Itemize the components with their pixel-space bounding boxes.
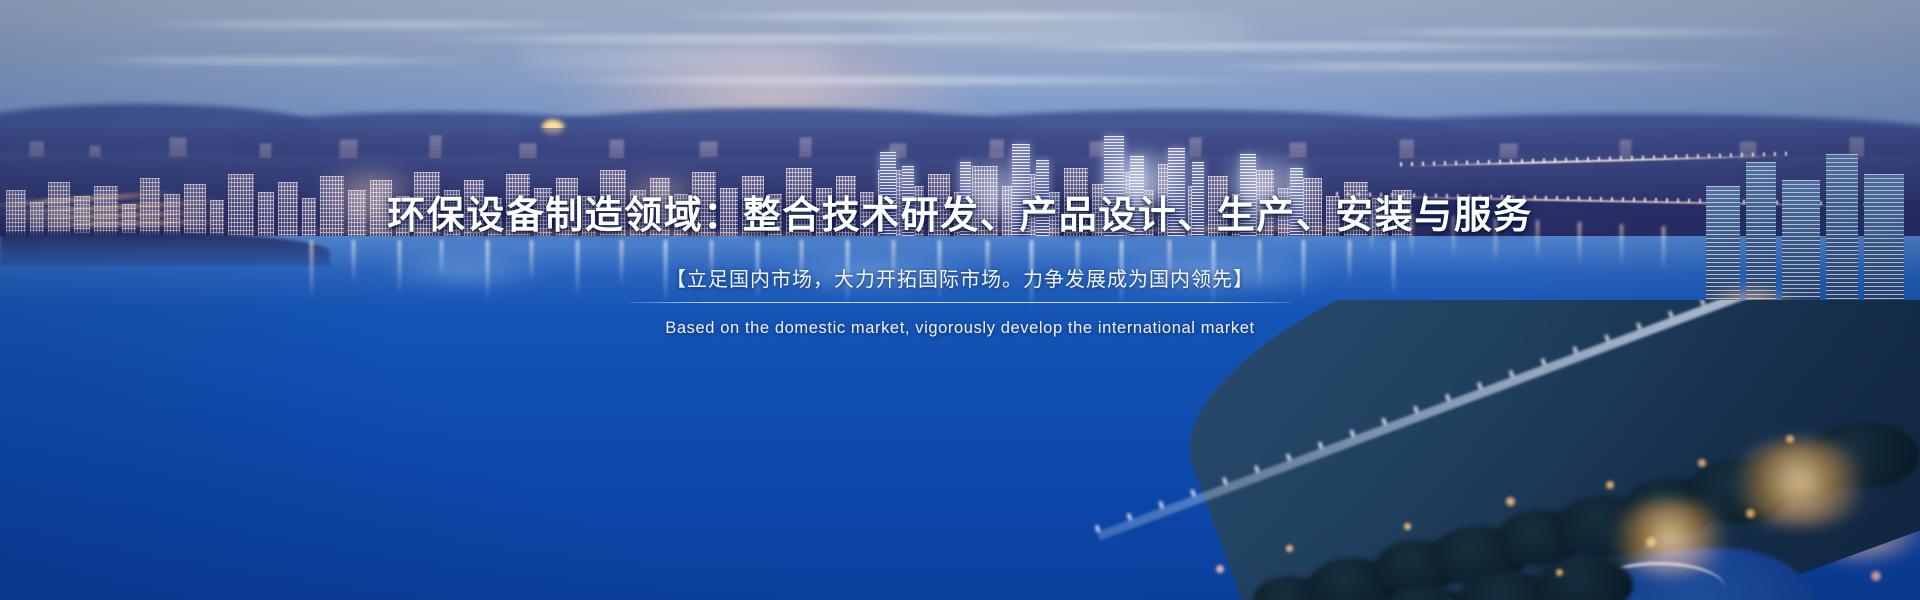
- cloud: [880, 22, 1260, 44]
- city-glow-warm: [600, 176, 720, 232]
- city-glow: [1200, 158, 1330, 224]
- cloud-streak: [640, 14, 1280, 19]
- city-glow: [940, 162, 1050, 224]
- lit-peninsula: [1085, 300, 1920, 600]
- cloud-streak: [120, 22, 640, 27]
- cloud-streak: [1320, 30, 1840, 35]
- city-glow-warm: [300, 170, 440, 230]
- city-glow: [1080, 150, 1200, 220]
- cloud-streak: [980, 44, 1680, 49]
- cloud-streak: [60, 58, 500, 63]
- cloud: [520, 46, 840, 72]
- cloud-streak: [500, 78, 1320, 83]
- cloud-streak: [1180, 64, 1800, 69]
- hero-banner: 环保设备制造领域：整合技术研发、产品设计、生产、安装与服务 【立足国内市场，大力…: [0, 0, 1920, 600]
